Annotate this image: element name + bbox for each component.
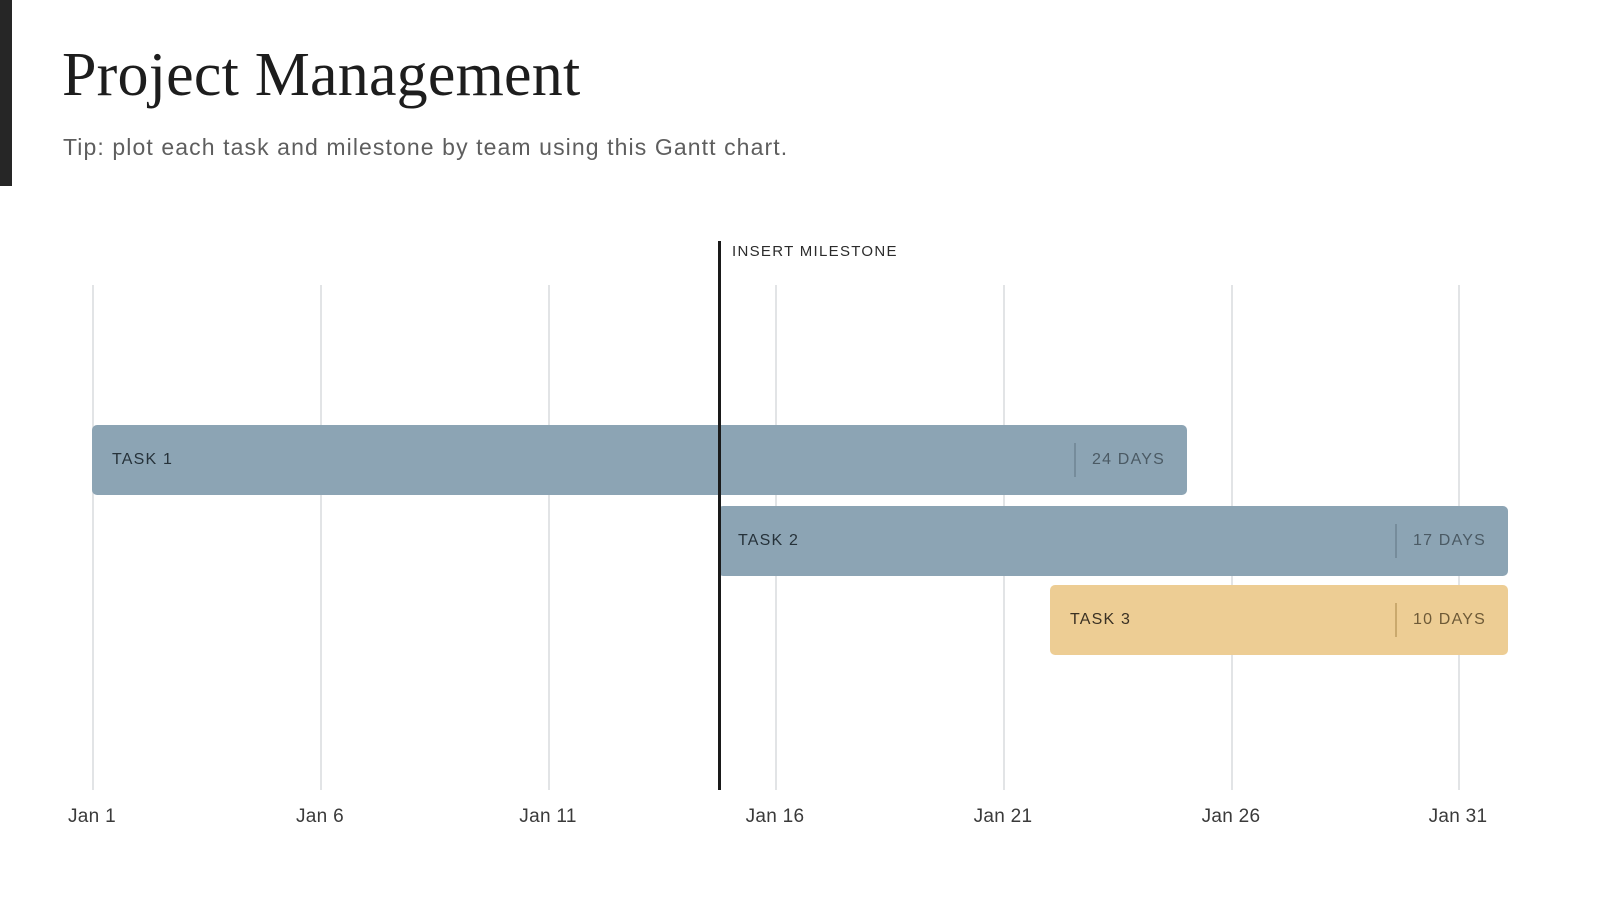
gantt-bar-task-label: TASK 3 xyxy=(1070,611,1131,629)
gantt-bar-task-label: TASK 2 xyxy=(738,532,799,550)
x-axis-tick-label: Jan 26 xyxy=(1202,806,1261,828)
gantt-bar-duration-label: 24 DAYS xyxy=(1092,451,1165,469)
gridline xyxy=(92,285,94,790)
x-axis-tick-label: Jan 31 xyxy=(1429,806,1488,828)
gantt-bar-duration-group: 10 DAYS xyxy=(1395,603,1486,637)
gantt-bar-duration-label: 10 DAYS xyxy=(1413,611,1486,629)
gantt-bar[interactable]: TASK 124 DAYS xyxy=(92,425,1187,495)
gantt-bar[interactable]: TASK 310 DAYS xyxy=(1050,585,1508,655)
x-axis-tick-label: Jan 6 xyxy=(296,806,344,828)
gridline xyxy=(548,285,550,790)
milestone-label[interactable]: INSERT MILESTONE xyxy=(732,243,898,260)
x-axis-tick-label: Jan 1 xyxy=(68,806,116,828)
gantt-bar-duration-group: 24 DAYS xyxy=(1074,443,1165,477)
gantt-bar-divider xyxy=(1395,524,1397,558)
milestone-line[interactable] xyxy=(718,241,721,790)
x-axis-tick-label: Jan 11 xyxy=(519,806,576,828)
gantt-bar[interactable]: TASK 217 DAYS xyxy=(718,506,1508,576)
gantt-chart: Jan 1Jan 6Jan 11Jan 16Jan 21Jan 26Jan 31… xyxy=(0,0,1600,900)
gantt-bar-duration-label: 17 DAYS xyxy=(1413,532,1486,550)
slide-canvas: Project Management Tip: plot each task a… xyxy=(0,0,1600,900)
x-axis-tick-label: Jan 16 xyxy=(746,806,805,828)
gantt-bar-divider xyxy=(1395,603,1397,637)
gantt-bar-divider xyxy=(1074,443,1076,477)
x-axis-tick-label: Jan 21 xyxy=(974,806,1033,828)
gantt-bar-duration-group: 17 DAYS xyxy=(1395,524,1486,558)
gantt-bar-task-label: TASK 1 xyxy=(112,451,173,469)
gridline xyxy=(320,285,322,790)
